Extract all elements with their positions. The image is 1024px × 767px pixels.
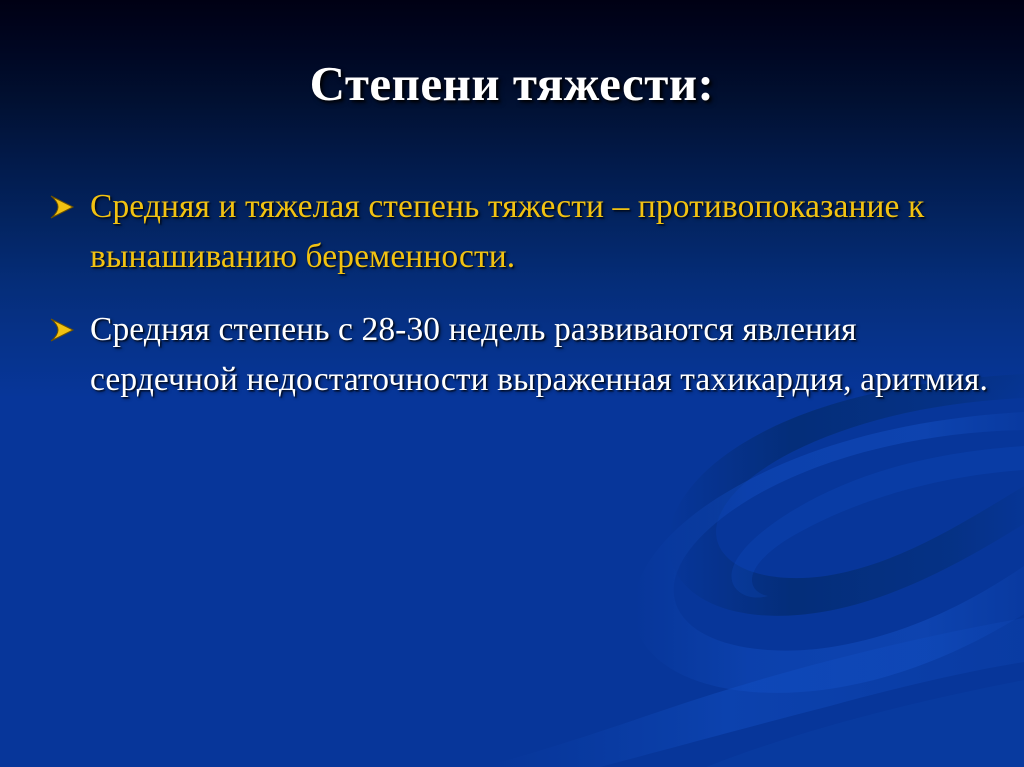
- title-block: Степени тяжести:: [0, 58, 1024, 109]
- arrowhead-bullet-icon: [48, 182, 90, 220]
- list-item-text: Средняя и тяжелая степень тяжести – прот…: [90, 182, 988, 283]
- presentation-slide: Степени тяжести: Средняя и тяжелая степе…: [0, 0, 1024, 767]
- list-item-text: Средняя степень с 28-30 недель развивают…: [90, 305, 988, 406]
- slide-title: Степени тяжести:: [310, 58, 715, 109]
- bullet-list: Средняя и тяжелая степень тяжести – прот…: [48, 182, 988, 427]
- arrowhead-bullet-icon: [48, 305, 90, 343]
- list-item: Средняя и тяжелая степень тяжести – прот…: [48, 182, 988, 283]
- list-item: Средняя степень с 28-30 недель развивают…: [48, 305, 988, 406]
